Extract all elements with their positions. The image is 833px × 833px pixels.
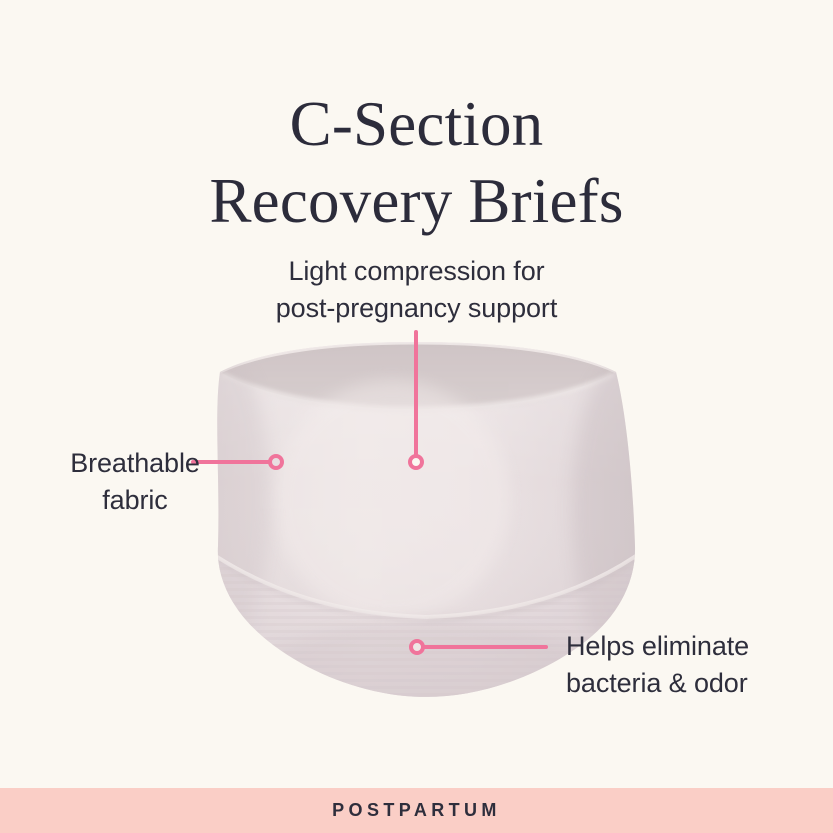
infographic-canvas: C-Section Recovery Briefs Light compress… [0,0,833,833]
callout-odor: Helps eliminate bacteria & odor [566,628,826,701]
callout-breathable: Breathable fabric [10,445,260,518]
callout-compression-line-2: post-pregnancy support [0,290,833,327]
marker-ring-icon-left [268,454,284,470]
page-title: C-Section Recovery Briefs [0,86,833,240]
callout-odor-line-2: bacteria & odor [566,665,826,702]
footer-label: POSTPARTUM [332,800,501,821]
marker-ring-icon-top [408,454,424,470]
callout-compression-line-1: Light compression for [0,253,833,290]
callout-compression: Light compression for post-pregnancy sup… [0,253,833,326]
leader-line-top [414,330,418,458]
footer-banner: POSTPARTUM [0,788,833,833]
callout-breathable-line-1: Breathable [10,445,260,482]
callout-odor-line-1: Helps eliminate [566,628,826,665]
marker-ring-icon-right [409,639,425,655]
title-line-1: C-Section [290,89,544,159]
leader-line-right [421,645,548,649]
title-line-2: Recovery Briefs [0,163,833,240]
callout-breathable-line-2: fabric [10,482,260,519]
